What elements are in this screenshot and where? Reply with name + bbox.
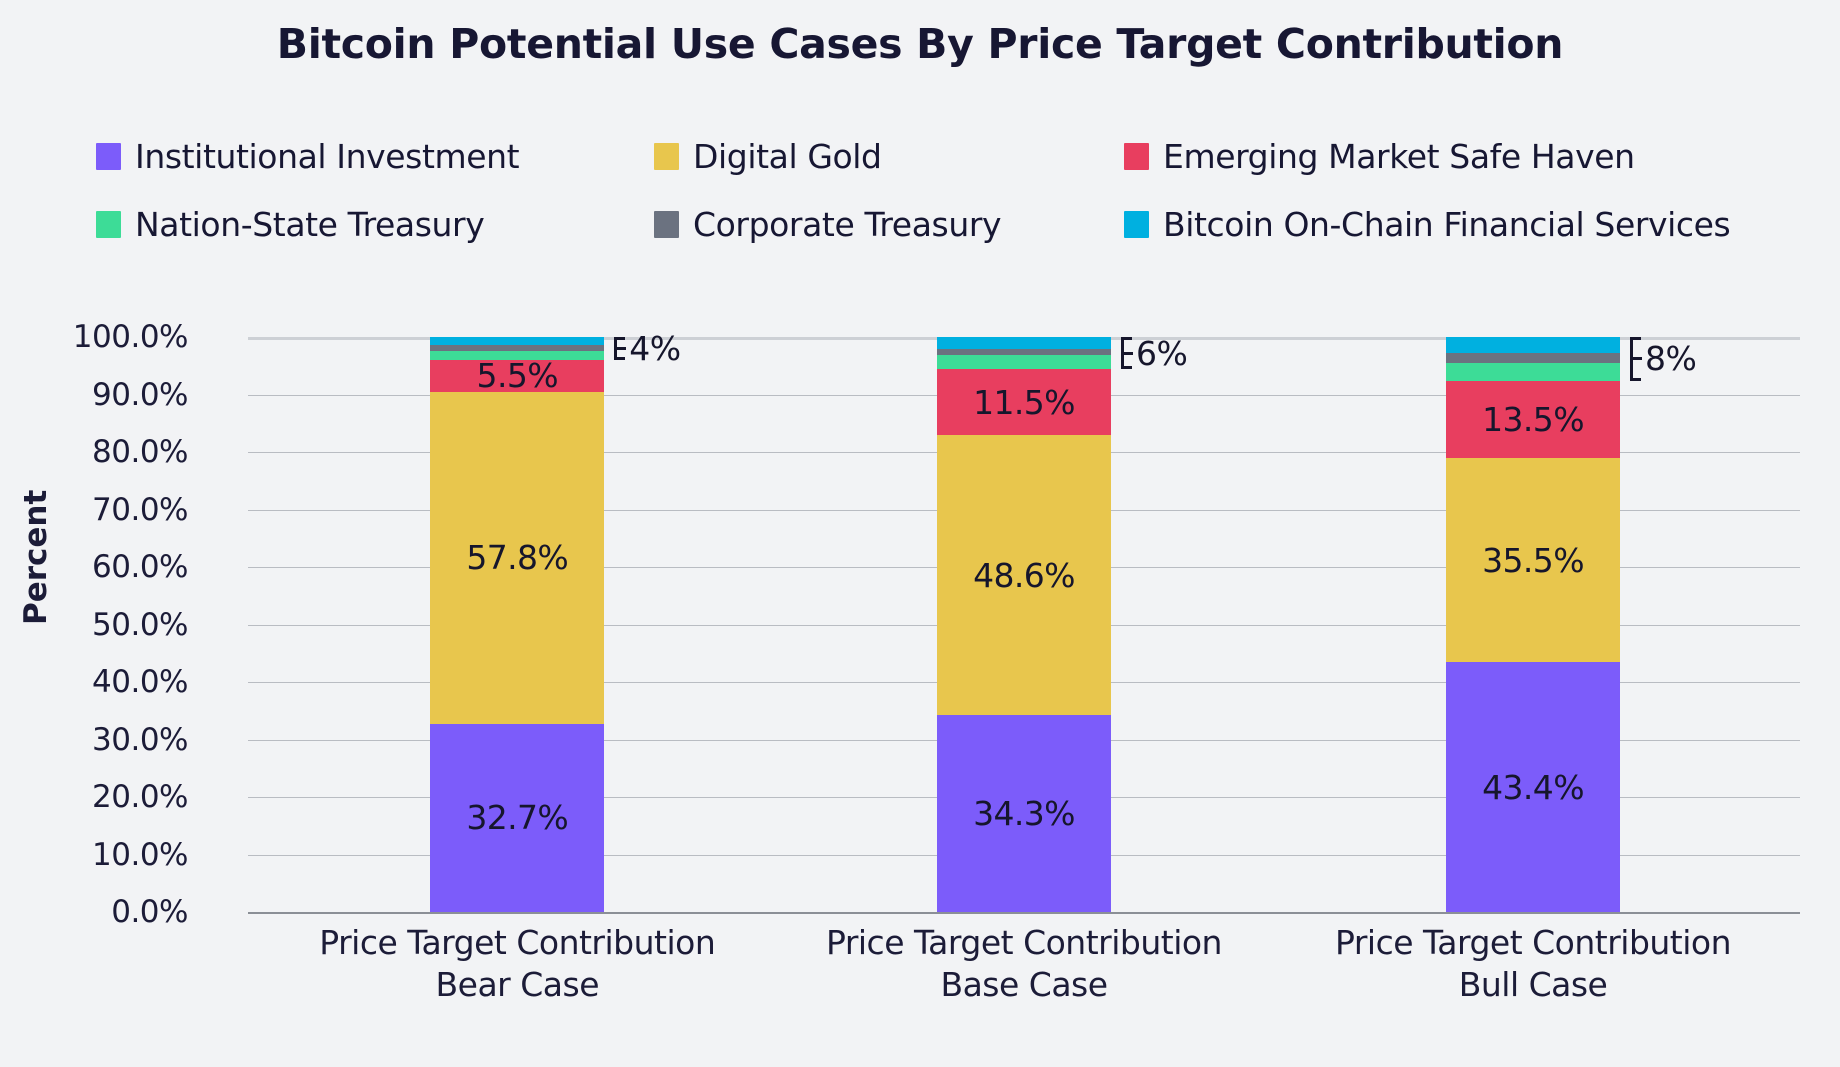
y-axis-tick-label: 30.0% bbox=[8, 722, 188, 758]
y-axis-tick-label: 90.0% bbox=[8, 377, 188, 413]
y-axis-tick-label: 0.0% bbox=[8, 894, 188, 930]
x-axis-label-line-2: Bull Case bbox=[1283, 964, 1783, 1006]
plot-wrapper: 32.7%57.8%5.5%4%34.3%48.6%11.5%6%43.4%35… bbox=[0, 0, 1840, 1067]
y-axis-tick-label: 40.0% bbox=[8, 664, 188, 700]
x-axis-label-line-1: Price Target Contribution bbox=[774, 922, 1274, 964]
x-axis-label-line-1: Price Target Contribution bbox=[1283, 922, 1783, 964]
x-axis-category-label: Price Target ContributionBull Case bbox=[1283, 922, 1783, 1006]
y-axis-tick-label: 80.0% bbox=[8, 434, 188, 470]
x-axis-label-line-1: Price Target Contribution bbox=[267, 922, 767, 964]
x-axis-label-layer: Price Target ContributionBear CasePrice … bbox=[248, 922, 1800, 1042]
y-axis-tick-label: 50.0% bbox=[8, 607, 188, 643]
x-axis-category-label: Price Target ContributionBase Case bbox=[774, 922, 1274, 1006]
x-axis-category-label: Price Target ContributionBear Case bbox=[267, 922, 767, 1006]
y-axis-tick-label: 10.0% bbox=[8, 837, 188, 873]
y-axis-tick-label: 60.0% bbox=[8, 549, 188, 585]
y-axis-tick-label: 70.0% bbox=[8, 492, 188, 528]
y-axis-tick-layer: 0.0%10.0%20.0%30.0%40.0%50.0%60.0%70.0%8… bbox=[248, 337, 1800, 912]
x-axis-label-line-2: Bear Case bbox=[267, 964, 767, 1006]
y-axis-tick-label: 100.0% bbox=[8, 319, 188, 355]
gridline bbox=[248, 912, 1800, 914]
y-axis-tick-label: 20.0% bbox=[8, 779, 188, 815]
chart-container: Bitcoin Potential Use Cases By Price Tar… bbox=[0, 0, 1840, 1067]
x-axis-label-line-2: Base Case bbox=[774, 964, 1274, 1006]
